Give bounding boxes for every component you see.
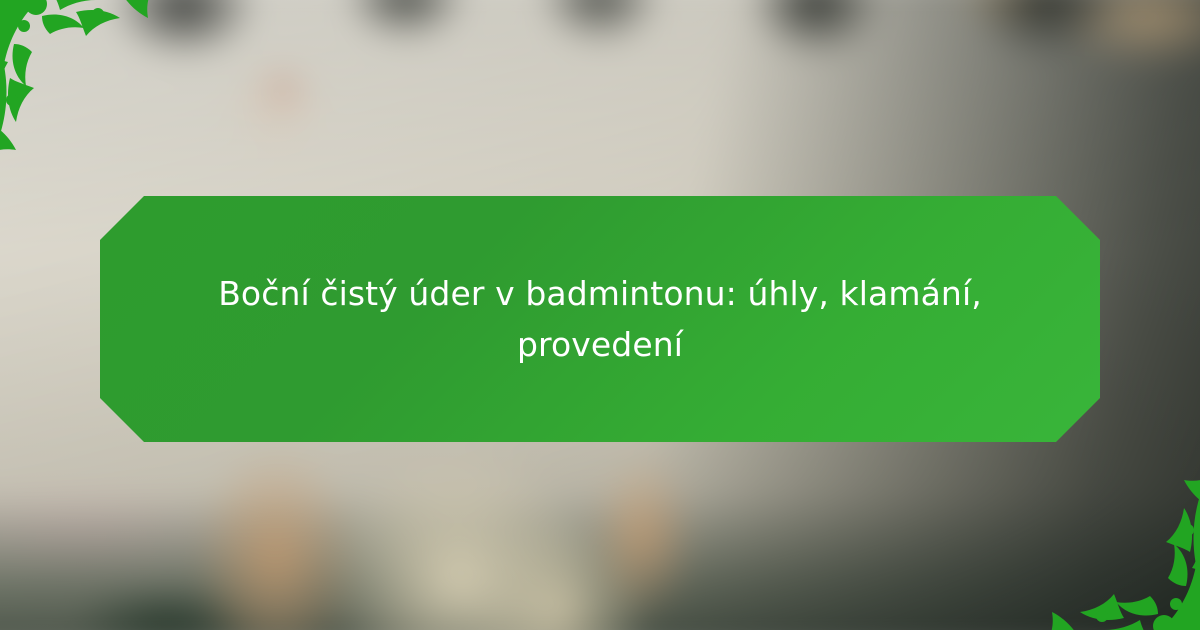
- social-card: Boční čistý úder v badmintonu: úhly, kla…: [0, 0, 1200, 630]
- title-plaque: Boční čistý úder v badmintonu: úhly, kla…: [100, 196, 1100, 442]
- page-title: Boční čistý úder v badmintonu: úhly, kla…: [200, 268, 1000, 370]
